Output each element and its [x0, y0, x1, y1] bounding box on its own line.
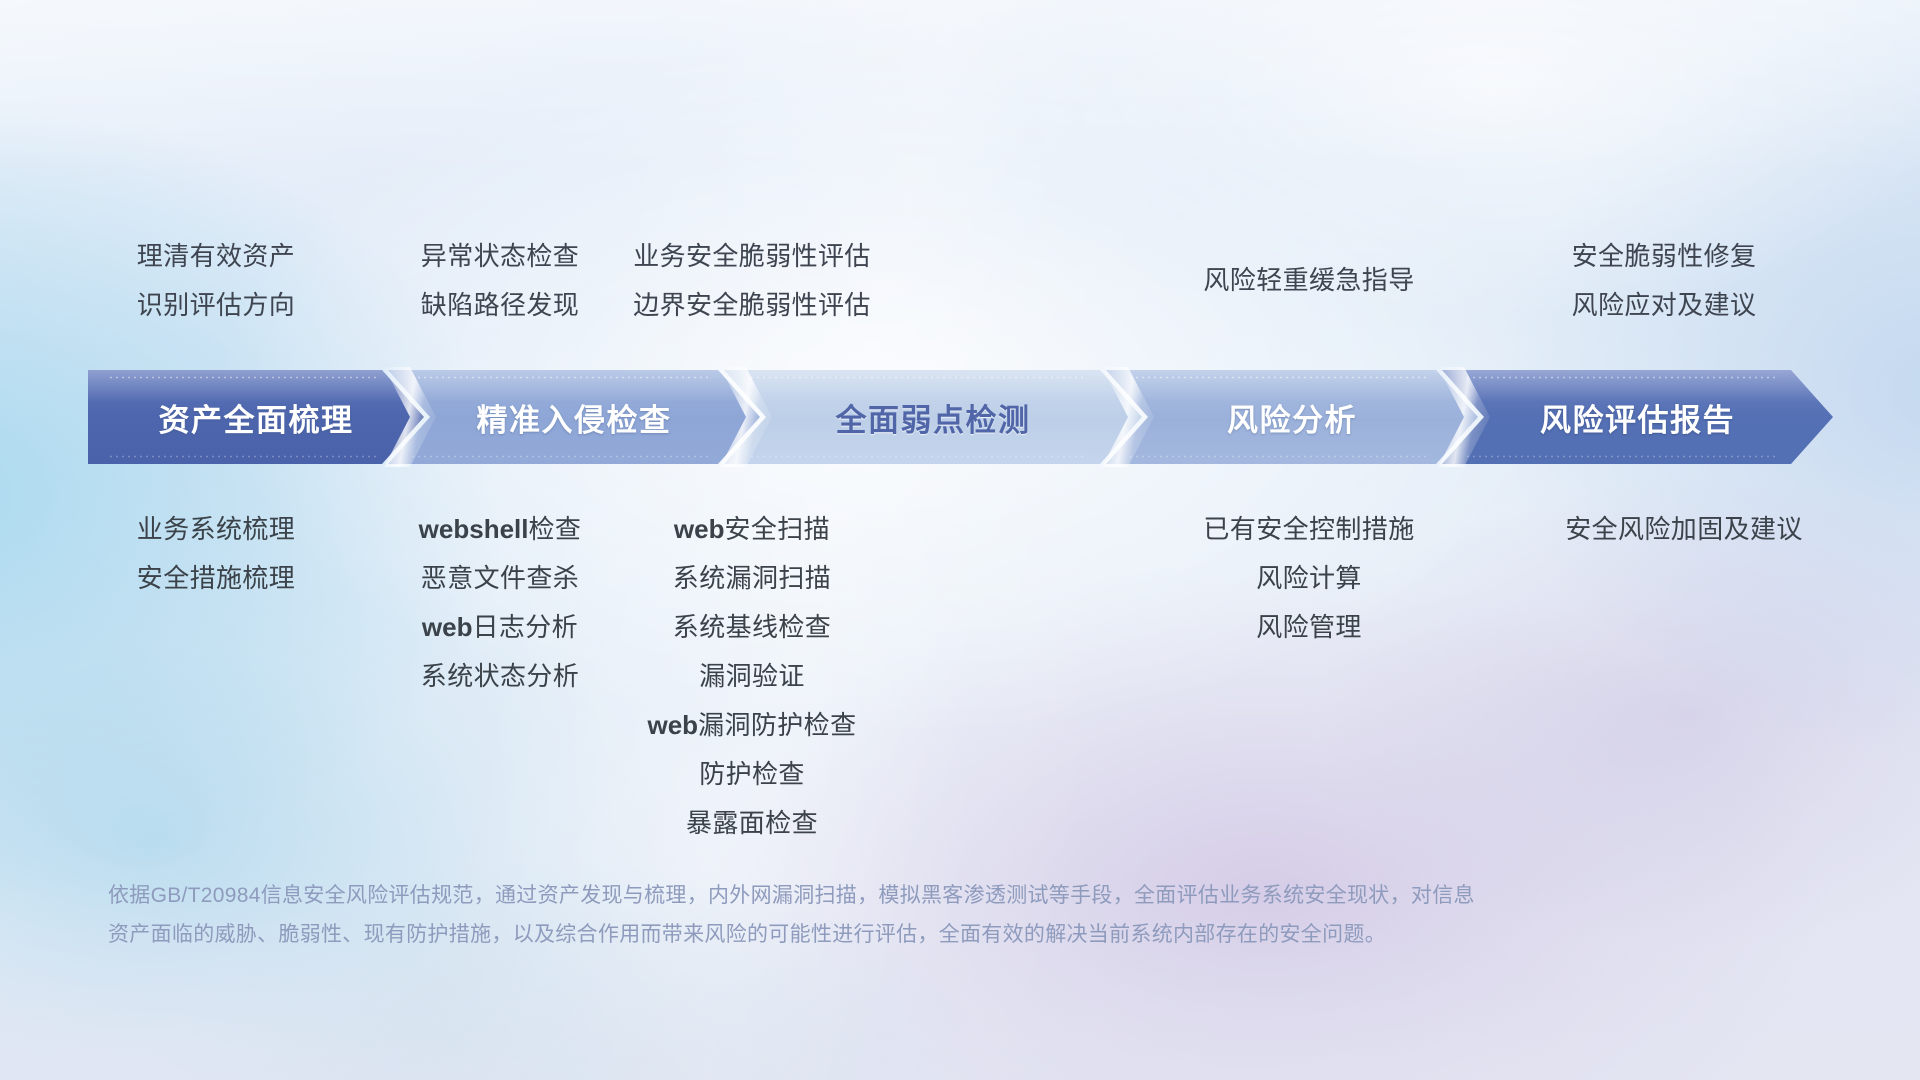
- stage-activities-risk-analysis: 已有安全控制措施 风险计算 风险管理: [1143, 505, 1475, 652]
- chevron-dot-row-bottom: [1128, 454, 1426, 459]
- activity-text: 系统基线检查: [556, 603, 948, 652]
- stage-chevron-asset-inventory[interactable]: 资产全面梳理: [88, 370, 424, 464]
- outcome-text: 边界安全脆弱性评估: [556, 281, 948, 330]
- outcome-text: 安全脆弱性修复: [1498, 232, 1830, 281]
- chevron-dot-row-top: [410, 375, 708, 380]
- stage-label: 风险分析: [1227, 395, 1357, 440]
- stage-chevron-risk-report[interactable]: 风险评估报告: [1442, 370, 1833, 464]
- activity-text: 暴露面检查: [556, 799, 948, 848]
- chevron-dot-row-top: [108, 375, 377, 380]
- chevron-dot-row-top: [1465, 375, 1778, 380]
- stage-label: 资产全面梳理: [159, 395, 354, 440]
- stage-outcomes-risk-analysis: 风险轻重缓急指导: [1143, 256, 1475, 305]
- chevron-dot-row-bottom: [108, 454, 377, 459]
- stage-label: 风险评估报告: [1540, 395, 1735, 440]
- stage-label: 全面弱点检测: [836, 395, 1031, 440]
- outcome-text: 风险轻重缓急指导: [1143, 256, 1475, 305]
- activity-text: 漏洞验证: [556, 652, 948, 701]
- chevron-dot-row-top: [1128, 375, 1426, 380]
- footer-description: 依据GB/T20984信息安全风险评估规范，通过资产发现与梳理，内外网漏洞扫描，…: [108, 876, 1748, 954]
- stage-chevron-intrusion-check[interactable]: 精准入侵检查: [388, 370, 760, 464]
- stage-activities-risk-report: 安全风险加固及建议: [1498, 505, 1870, 554]
- stage-activities-weakness-detection: web安全扫描 系统漏洞扫描 系统基线检查 漏洞验证 web漏洞防护检查 防护检…: [556, 505, 948, 848]
- footer-line-1: 依据GB/T20984信息安全风险评估规范，通过资产发现与梳理，内外网漏洞扫描，…: [108, 876, 1748, 915]
- activity-text: 风险管理: [1143, 603, 1475, 652]
- stage-outcomes-risk-report: 安全脆弱性修复 风险应对及建议: [1498, 232, 1830, 330]
- chevron-dot-row-bottom: [1465, 454, 1778, 459]
- stage-chevron-risk-analysis[interactable]: 风险分析: [1106, 370, 1478, 464]
- activity-text: 防护检查: [556, 750, 948, 799]
- chevron-dot-row-bottom: [749, 454, 1083, 459]
- activity-text: 已有安全控制措施: [1143, 505, 1475, 554]
- activity-text: web安全扫描: [556, 505, 948, 554]
- process-flow-band: 资产全面梳理 精准入侵检查 全面弱点检测: [88, 370, 1833, 464]
- chevron-dot-row-bottom: [410, 454, 708, 459]
- activity-text: 安全风险加固及建议: [1498, 505, 1870, 554]
- activity-text: 系统漏洞扫描: [556, 554, 948, 603]
- chevron-dot-row-top: [749, 375, 1083, 380]
- footer-line-2: 资产面临的威胁、脆弱性、现有防护措施，以及综合作用而带来风险的可能性进行评估，全…: [108, 915, 1748, 954]
- activity-text: 风险计算: [1143, 554, 1475, 603]
- outcome-text: 业务安全脆弱性评估: [556, 232, 948, 281]
- diagram-canvas: 理清有效资产 识别评估方向 异常状态检查 缺陷路径发现 业务安全脆弱性评估 边界…: [0, 0, 1920, 1080]
- stage-label: 精准入侵检查: [477, 395, 672, 440]
- stage-outcomes-weakness-detection: 业务安全脆弱性评估 边界安全脆弱性评估: [556, 232, 948, 330]
- outcome-text: 风险应对及建议: [1498, 281, 1830, 330]
- activity-text: web漏洞防护检查: [556, 701, 948, 750]
- stage-chevron-weakness-detection[interactable]: 全面弱点检测: [724, 370, 1142, 464]
